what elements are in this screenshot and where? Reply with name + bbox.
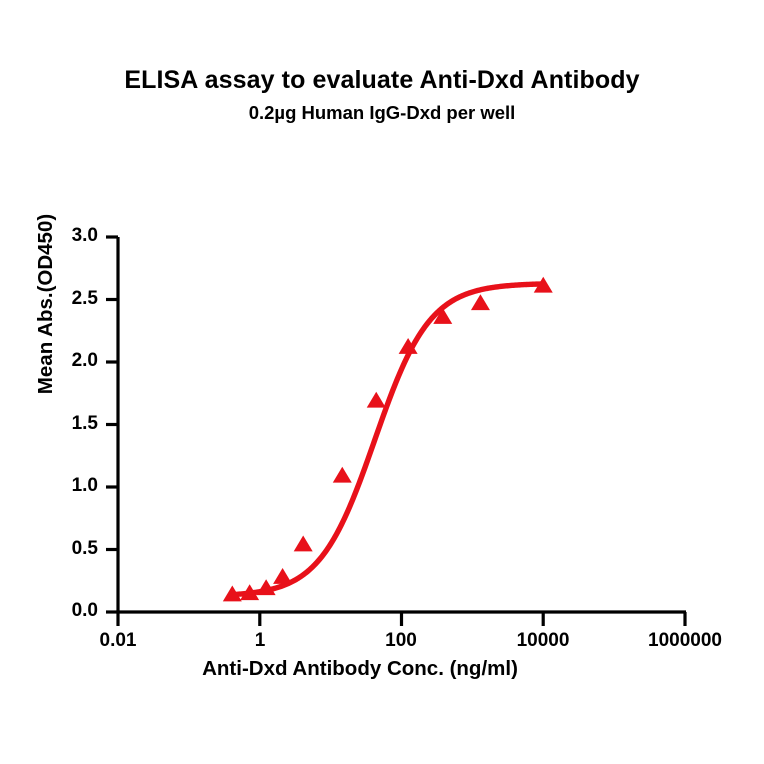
chart-figure: ELISA assay to evaluate Anti-Dxd Antibod… bbox=[0, 0, 764, 764]
y-axis-ticks bbox=[106, 237, 118, 612]
axis-lines bbox=[116, 237, 686, 612]
data-point-marker bbox=[273, 568, 292, 584]
data-point-marker bbox=[294, 535, 313, 551]
x-tick-label-1000000: 1000000 bbox=[615, 630, 755, 652]
data-point-marker bbox=[367, 392, 386, 408]
y-tick-label-1.0: 1.0 bbox=[28, 475, 98, 497]
data-point-marker bbox=[333, 467, 352, 483]
series-curve bbox=[232, 284, 543, 595]
series-markers bbox=[223, 277, 553, 602]
y-tick-label-0.5: 0.5 bbox=[28, 538, 98, 560]
x-tick-label-0.01: 0.01 bbox=[48, 630, 188, 652]
y-tick-label-0.0: 0.0 bbox=[28, 600, 98, 622]
x-axis-ticks bbox=[118, 612, 685, 626]
x-tick-label-1: 1 bbox=[190, 630, 330, 652]
x-axis-title: Anti-Dxd Antibody Conc. (ng/ml) bbox=[60, 657, 660, 681]
data-point-marker bbox=[471, 294, 490, 310]
x-tick-label-10000: 10000 bbox=[473, 630, 613, 652]
y-axis-title: Mean Abs.(OD450) bbox=[34, 154, 58, 454]
x-tick-label-100: 100 bbox=[331, 630, 471, 652]
